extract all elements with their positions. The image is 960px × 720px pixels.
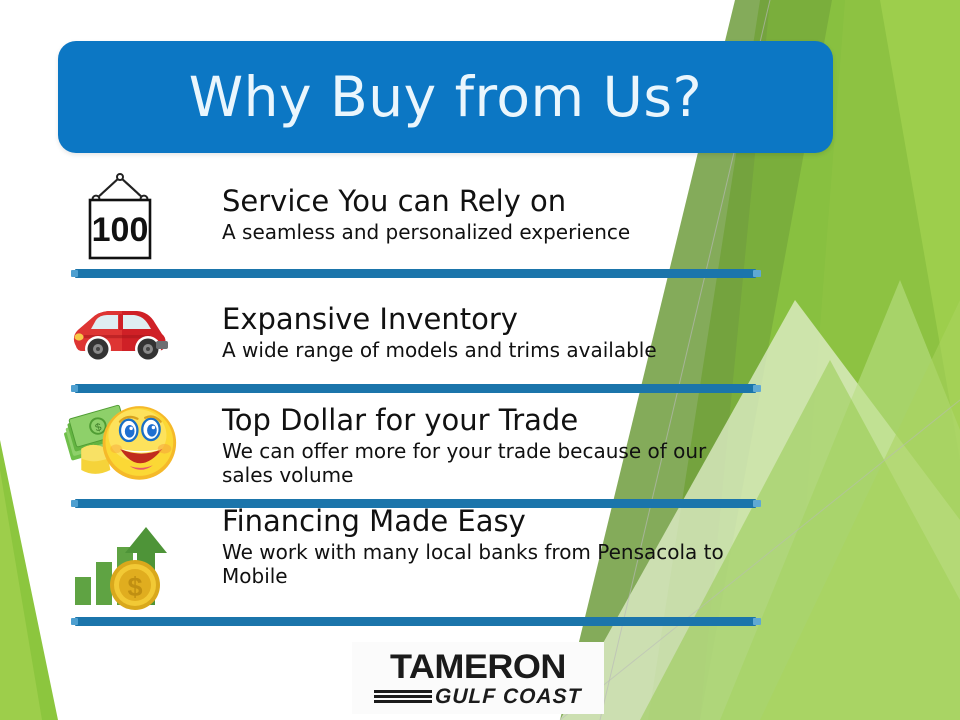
hanging-sign-100-icon: 100 [72,169,168,265]
red-car-icon [60,291,180,371]
sign-value: 100 [92,211,149,249]
benefit-icon-4: $ [60,515,180,615]
benefit-subtitle: A wide range of models and trims availab… [222,339,762,363]
benefit-text-3: Top Dollar for your Trade We can offer m… [222,404,762,488]
benefit-icon-2 [60,285,180,377]
benefit-subtitle: We can offer more for your trade because… [222,440,762,487]
row-divider [75,269,756,278]
logo-primary-text: TAMERON [390,650,566,684]
dealer-logo: TAMERON GULF COAST [352,642,604,714]
benefit-icon-3: $ [60,393,180,489]
logo-secondary-text: GULF COAST [435,686,582,707]
logo-secondary-row: GULF COAST [374,686,582,707]
smiley-with-cash-icon: $ [60,397,180,485]
growth-chart-coin-icon: $ [65,517,175,613]
benefit-title: Expansive Inventory [222,303,762,335]
benefit-icon-1: 100 [60,167,180,267]
benefit-title: Financing Made Easy [222,505,762,537]
benefit-text-2: Expansive Inventory A wide range of mode… [222,303,762,363]
benefit-subtitle: A seamless and personalized experience [222,221,762,245]
benefit-title: Top Dollar for your Trade [222,404,762,436]
slide-canvas: Why Buy from Us? 100 Service You c [0,0,960,720]
benefit-title: Service You can Rely on [222,185,762,217]
row-divider [75,617,756,626]
svg-text:$: $ [127,572,142,602]
benefit-text-4: Financing Made Easy We work with many lo… [222,505,762,589]
row-divider [75,384,756,393]
benefit-text-1: Service You can Rely on A seamless and p… [222,185,762,245]
page-title: Why Buy from Us? [189,70,702,125]
benefit-subtitle: We work with many local banks from Pensa… [222,541,762,588]
slide-title-banner: Why Buy from Us? [58,41,833,153]
logo-stripes-icon [374,690,432,703]
